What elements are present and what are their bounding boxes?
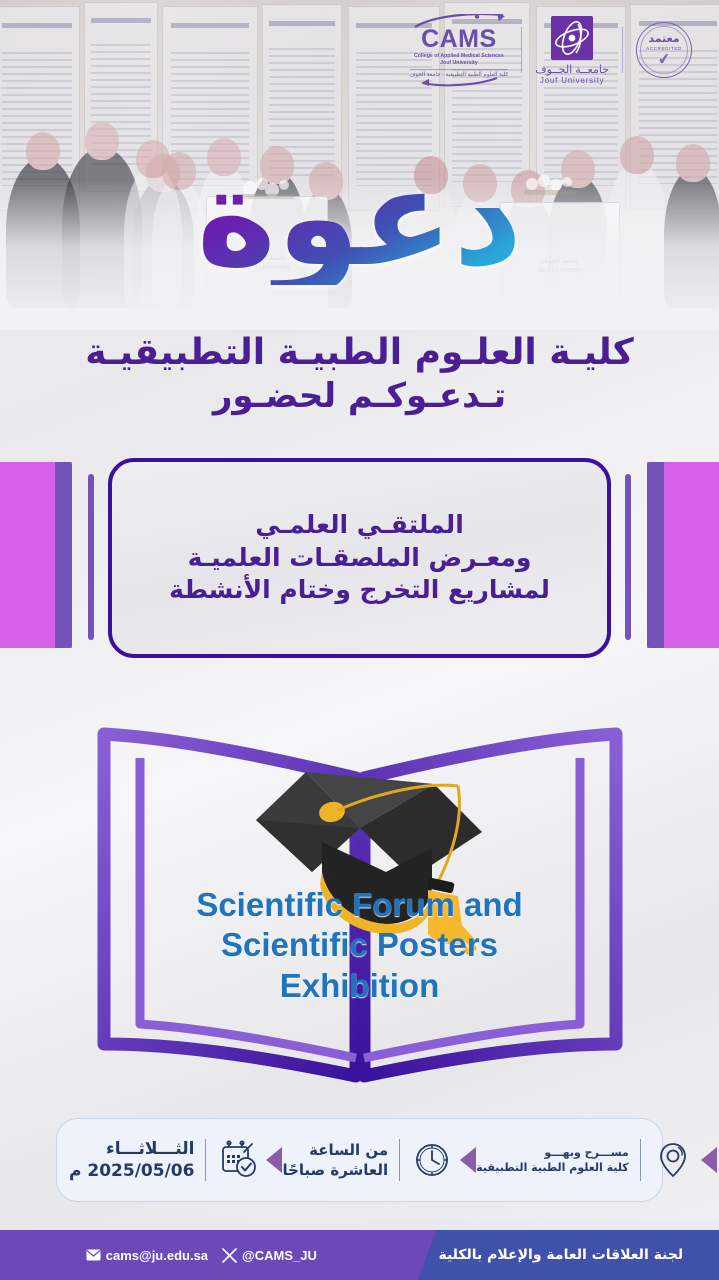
event-details-bar: الثـــلاثـــاء 2025/05/06 م من الساعة ال…	[56, 1118, 663, 1202]
english-title-line-2: Scientific Posters	[0, 925, 719, 965]
map-pin-icon	[652, 1139, 694, 1181]
event-location-line-1: مســـرح وبهـــو	[476, 1145, 629, 1160]
invite-line-2: تـدعـوكـم لحضـور	[0, 375, 719, 418]
cams-subtitle-en: College of Applied Medical SciencesJouf …	[414, 53, 504, 67]
footer-x-account[interactable]: @CAMS_JU	[222, 1248, 317, 1263]
triangle-marker	[266, 1147, 282, 1173]
decor-bar-left	[88, 474, 94, 640]
decor-bar-right	[625, 474, 631, 640]
poster-footer: cams@ju.edu.sa @CAMS_JU لجنة العلاقات ال…	[0, 1230, 719, 1280]
atom-icon	[552, 17, 592, 59]
accreditation-seal: معتمد ACCREDITED ✔	[623, 22, 705, 78]
info-divider	[205, 1139, 206, 1181]
jouf-name-en: Jouf University	[540, 76, 604, 85]
footer-email[interactable]: cams@ju.edu.sa	[86, 1248, 208, 1263]
event-date-text: الثـــلاثـــاء 2025/05/06 م	[69, 1138, 194, 1182]
seal-text-ar: معتمد	[648, 34, 679, 45]
calligraphy-text: دعوة	[197, 150, 523, 285]
decor-block-left	[0, 462, 72, 648]
event-location-line-2: كلية العلوم الطبية التطبيقية	[476, 1160, 629, 1175]
footer-x-handle: @CAMS_JU	[242, 1248, 317, 1263]
english-event-title: Scientific Forum and Scientific Posters …	[0, 885, 719, 1006]
cams-logo: CAMS College of Applied Medical Sciences…	[397, 14, 522, 87]
graduation-illustration	[60, 672, 660, 1092]
envelope-icon	[86, 1249, 101, 1261]
decor-block-right	[647, 462, 719, 648]
decor-block-right-edge	[647, 462, 664, 648]
info-divider	[399, 1139, 400, 1181]
event-title-zone: الملتقـي العلمـي ومعـرض الملصقـات العلمي…	[0, 452, 719, 664]
event-time-line-1: من الساعة	[282, 1140, 388, 1160]
event-title-line-2: ومعـرض الملصقـات العلميـة	[188, 542, 532, 575]
event-time-text: من الساعة العاشرة صباحًا	[282, 1140, 388, 1181]
event-location-segment: مســـرح وبهـــو كلية العلوم الطبية التطب…	[476, 1139, 717, 1181]
footer-top-fade	[0, 1216, 719, 1230]
event-location-text: مســـرح وبهـــو كلية العلوم الطبية التطب…	[476, 1145, 629, 1176]
event-poster: جامعة الجوفJouf University جامعة الجوفJo…	[0, 0, 719, 1280]
jouf-name-ar: جامعــة الجــوف	[535, 63, 609, 76]
event-date-value: 2025/05/06 م	[69, 1160, 194, 1182]
check-icon: ✔	[657, 51, 672, 68]
jouf-atom-mark	[551, 16, 593, 60]
x-twitter-icon	[222, 1248, 237, 1263]
footer-organizer: لجنة العلاقات العامة والإعلام بالكلية	[403, 1230, 719, 1280]
event-time-line-2: العاشرة صباحًا	[282, 1160, 388, 1180]
footer-contacts: cams@ju.edu.sa @CAMS_JU	[0, 1230, 403, 1280]
book-and-cap-illustration	[0, 672, 719, 1092]
english-title-line-1: Scientific Forum and	[0, 885, 719, 925]
cams-wordmark: CAMS	[421, 27, 497, 52]
event-day: الثـــلاثـــاء	[69, 1138, 194, 1160]
event-time-segment: من الساعة العاشرة صباحًا	[282, 1139, 476, 1181]
event-date-segment: الثـــلاثـــاء 2025/05/06 م	[69, 1138, 282, 1182]
english-title-line-3: Exhibition	[0, 966, 719, 1006]
info-divider	[640, 1139, 641, 1181]
event-title-line-1: الملتقـي العلمـي	[255, 509, 464, 542]
cams-swoosh-lower-icon	[419, 77, 499, 87]
event-title-line-3: لمشاريع التخرج وختام الأنشطة	[169, 574, 550, 607]
clock-icon	[411, 1139, 453, 1181]
jouf-university-logo: جامعــة الجــوف Jouf University	[522, 16, 622, 85]
event-title-box: الملتقـي العلمـي ومعـرض الملصقـات العلمي…	[108, 458, 611, 658]
invite-line-1: كليـة العلـوم الطبيـة التطبيقيـة	[0, 330, 719, 375]
footer-email-text: cams@ju.edu.sa	[106, 1248, 208, 1263]
header-logos: CAMS College of Applied Medical Sciences…	[397, 14, 705, 87]
footer-organizer-text: لجنة العلاقات العامة والإعلام بالكلية	[438, 1247, 683, 1263]
calendar-check-icon	[217, 1139, 259, 1181]
calligraphy-invitation-word: دعوة	[0, 150, 719, 285]
invitation-heading: كليـة العلـوم الطبيـة التطبيقيـة تـدعـوك…	[0, 330, 719, 418]
triangle-marker	[701, 1147, 717, 1173]
decor-block-left-edge	[55, 462, 72, 648]
triangle-marker	[460, 1147, 476, 1173]
